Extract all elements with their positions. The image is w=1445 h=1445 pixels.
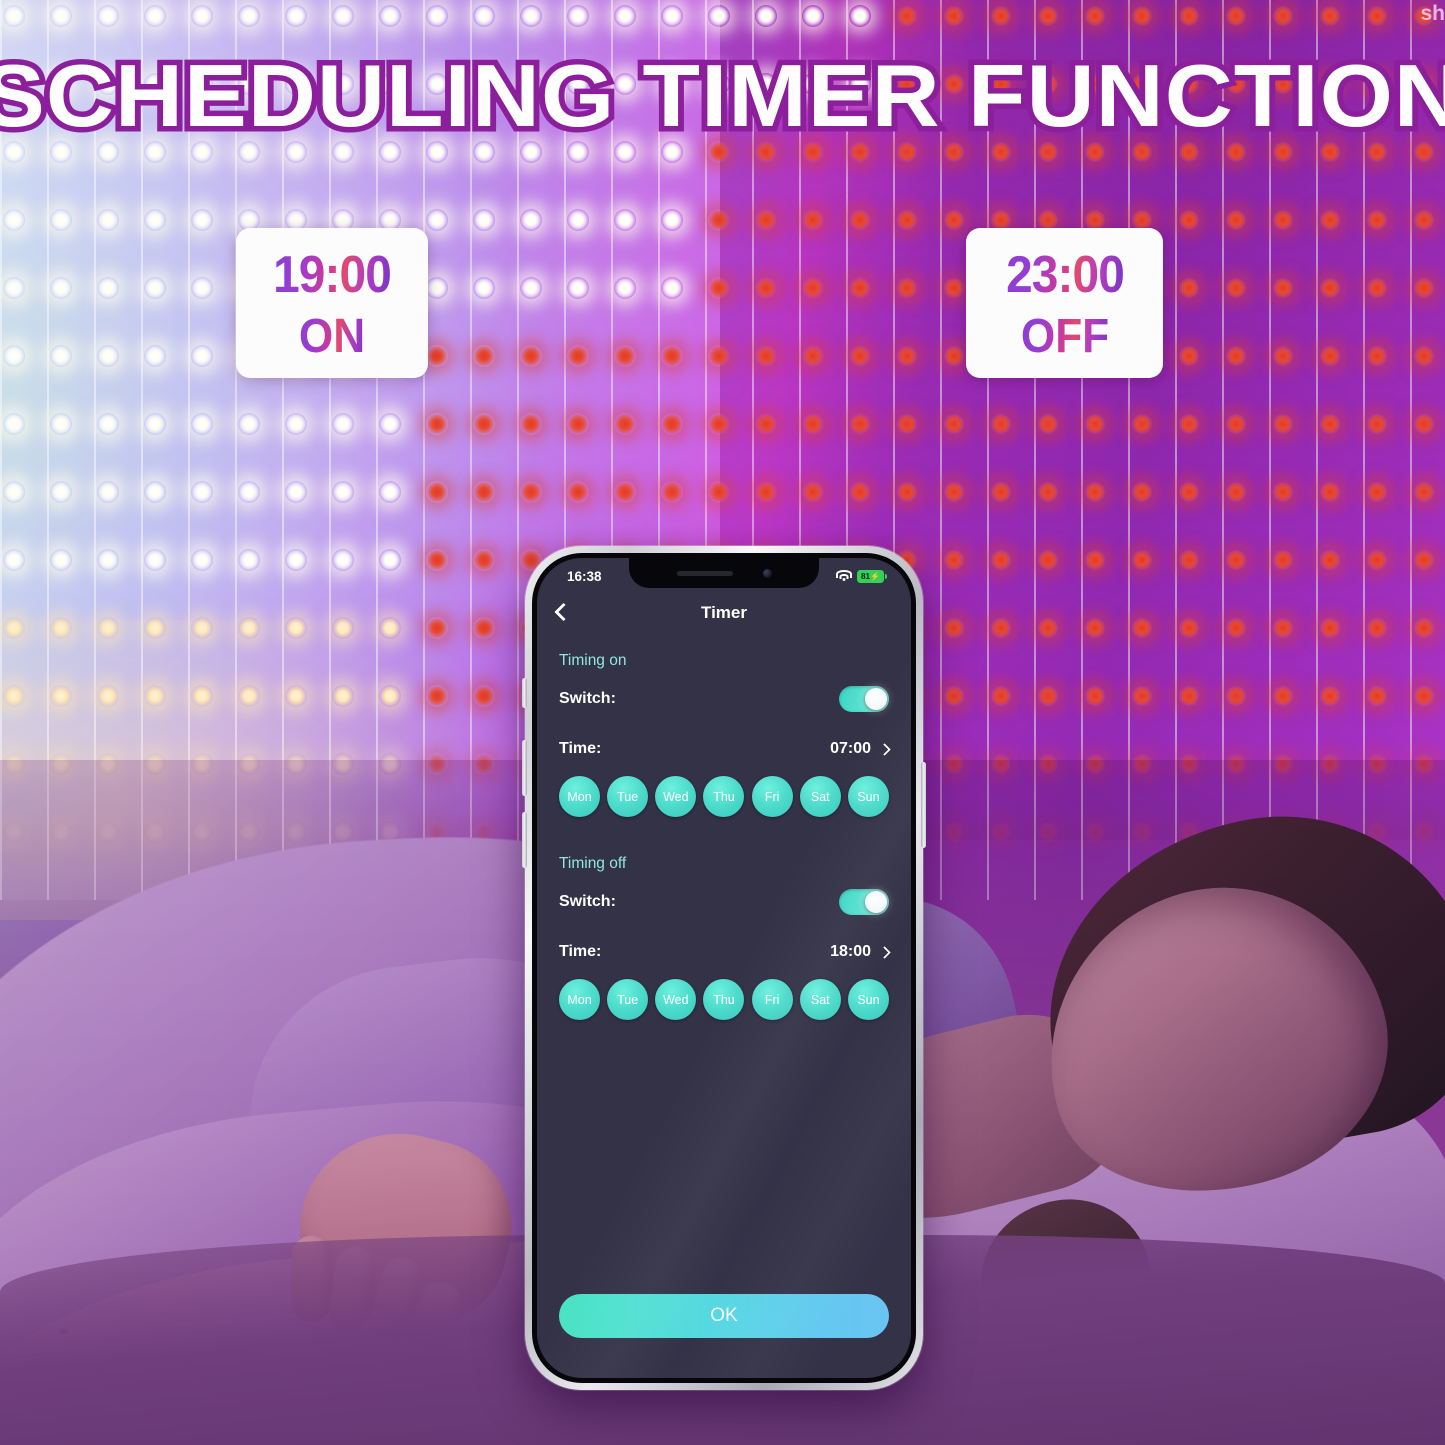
page-title: SCHEDULING TIMER FUNCTION — [0, 52, 1445, 140]
time-on-label: Time: — [559, 740, 601, 758]
earpiece-speaker — [677, 571, 733, 576]
status-time: 16:38 — [567, 569, 602, 584]
day-chip-wed[interactable]: Wed — [655, 776, 696, 817]
volume-down-button[interactable] — [522, 812, 527, 868]
day-chip-off-sat[interactable]: Sat — [800, 979, 841, 1020]
battery-tip — [885, 574, 887, 579]
days-off: Mon Tue Wed Thu Fri Sat Sun — [559, 979, 889, 1020]
day-chip-off-tue[interactable]: Tue — [607, 979, 648, 1020]
row-time-off[interactable]: Time: 18:00 — [559, 927, 889, 977]
time-on-value: 07:00 — [830, 740, 871, 758]
day-chip-off-fri[interactable]: Fri — [752, 979, 793, 1020]
switch-on-label: Switch: — [559, 690, 616, 708]
day-chip-tue[interactable]: Tue — [607, 776, 648, 817]
card-off-time: 23:00 — [1006, 249, 1124, 301]
day-chip-off-thu[interactable]: Thu — [703, 979, 744, 1020]
chevron-right-icon — [880, 745, 889, 754]
chevron-left-icon[interactable] — [557, 606, 572, 621]
card-off-state: OFF — [1020, 313, 1108, 361]
switch-off-toggle[interactable] — [839, 889, 889, 915]
schedule-card-on: 19:00 ON — [236, 228, 428, 378]
day-chip-sat[interactable]: Sat — [800, 776, 841, 817]
switch-on-toggle[interactable] — [839, 686, 889, 712]
nav-bar: Timer — [537, 592, 911, 634]
power-button[interactable] — [921, 762, 926, 848]
card-on-state: ON — [299, 313, 365, 361]
schedule-card-off: 23:00 OFF — [966, 228, 1163, 378]
timer-content: Timing on Switch: Time: 07:00 Mon — [537, 638, 911, 1378]
section-label-timing-off: Timing off — [559, 855, 889, 873]
day-chip-fri[interactable]: Fri — [752, 776, 793, 817]
row-switch-on: Switch: — [559, 674, 889, 724]
battery-indicator: 81⚡ — [857, 570, 884, 583]
phone-bezel: 16:38 81⚡ — [532, 553, 916, 1383]
chevron-right-icon — [880, 948, 889, 957]
row-switch-off: Switch: — [559, 877, 889, 927]
ok-button[interactable]: OK — [559, 1294, 889, 1338]
charging-bolt-icon: ⚡ — [870, 572, 880, 581]
days-on: Mon Tue Wed Thu Fri Sat Sun — [559, 776, 889, 817]
time-off-label: Time: — [559, 943, 601, 961]
day-chip-mon[interactable]: Mon — [559, 776, 600, 817]
front-camera — [763, 569, 772, 578]
nav-title: Timer — [537, 603, 911, 623]
battery-level: 81 — [861, 571, 870, 581]
day-chip-off-sun[interactable]: Sun — [848, 979, 889, 1020]
product-marketing-image: SCHEDULING TIMER FUNCTION 19:00 ON 23:00… — [0, 0, 1445, 1445]
day-chip-thu[interactable]: Thu — [703, 776, 744, 817]
card-on-time: 19:00 — [273, 249, 391, 301]
silent-switch[interactable] — [522, 678, 527, 708]
volume-up-button[interactable] — [522, 740, 527, 796]
toggle-knob — [865, 688, 887, 710]
switch-off-label: Switch: — [559, 893, 616, 911]
time-off-value: 18:00 — [830, 943, 871, 961]
section-label-timing-on: Timing on — [559, 652, 889, 670]
phone-mockup: 16:38 81⚡ — [525, 546, 923, 1390]
watermark: sh — [1420, 2, 1445, 26]
notch — [629, 558, 819, 588]
toggle-knob — [865, 891, 887, 913]
wifi-icon — [836, 570, 852, 582]
day-chip-off-wed[interactable]: Wed — [655, 979, 696, 1020]
row-time-on[interactable]: Time: 07:00 — [559, 724, 889, 774]
day-chip-sun[interactable]: Sun — [848, 776, 889, 817]
app-screen: 16:38 81⚡ — [537, 558, 911, 1378]
day-chip-off-mon[interactable]: Mon — [559, 979, 600, 1020]
